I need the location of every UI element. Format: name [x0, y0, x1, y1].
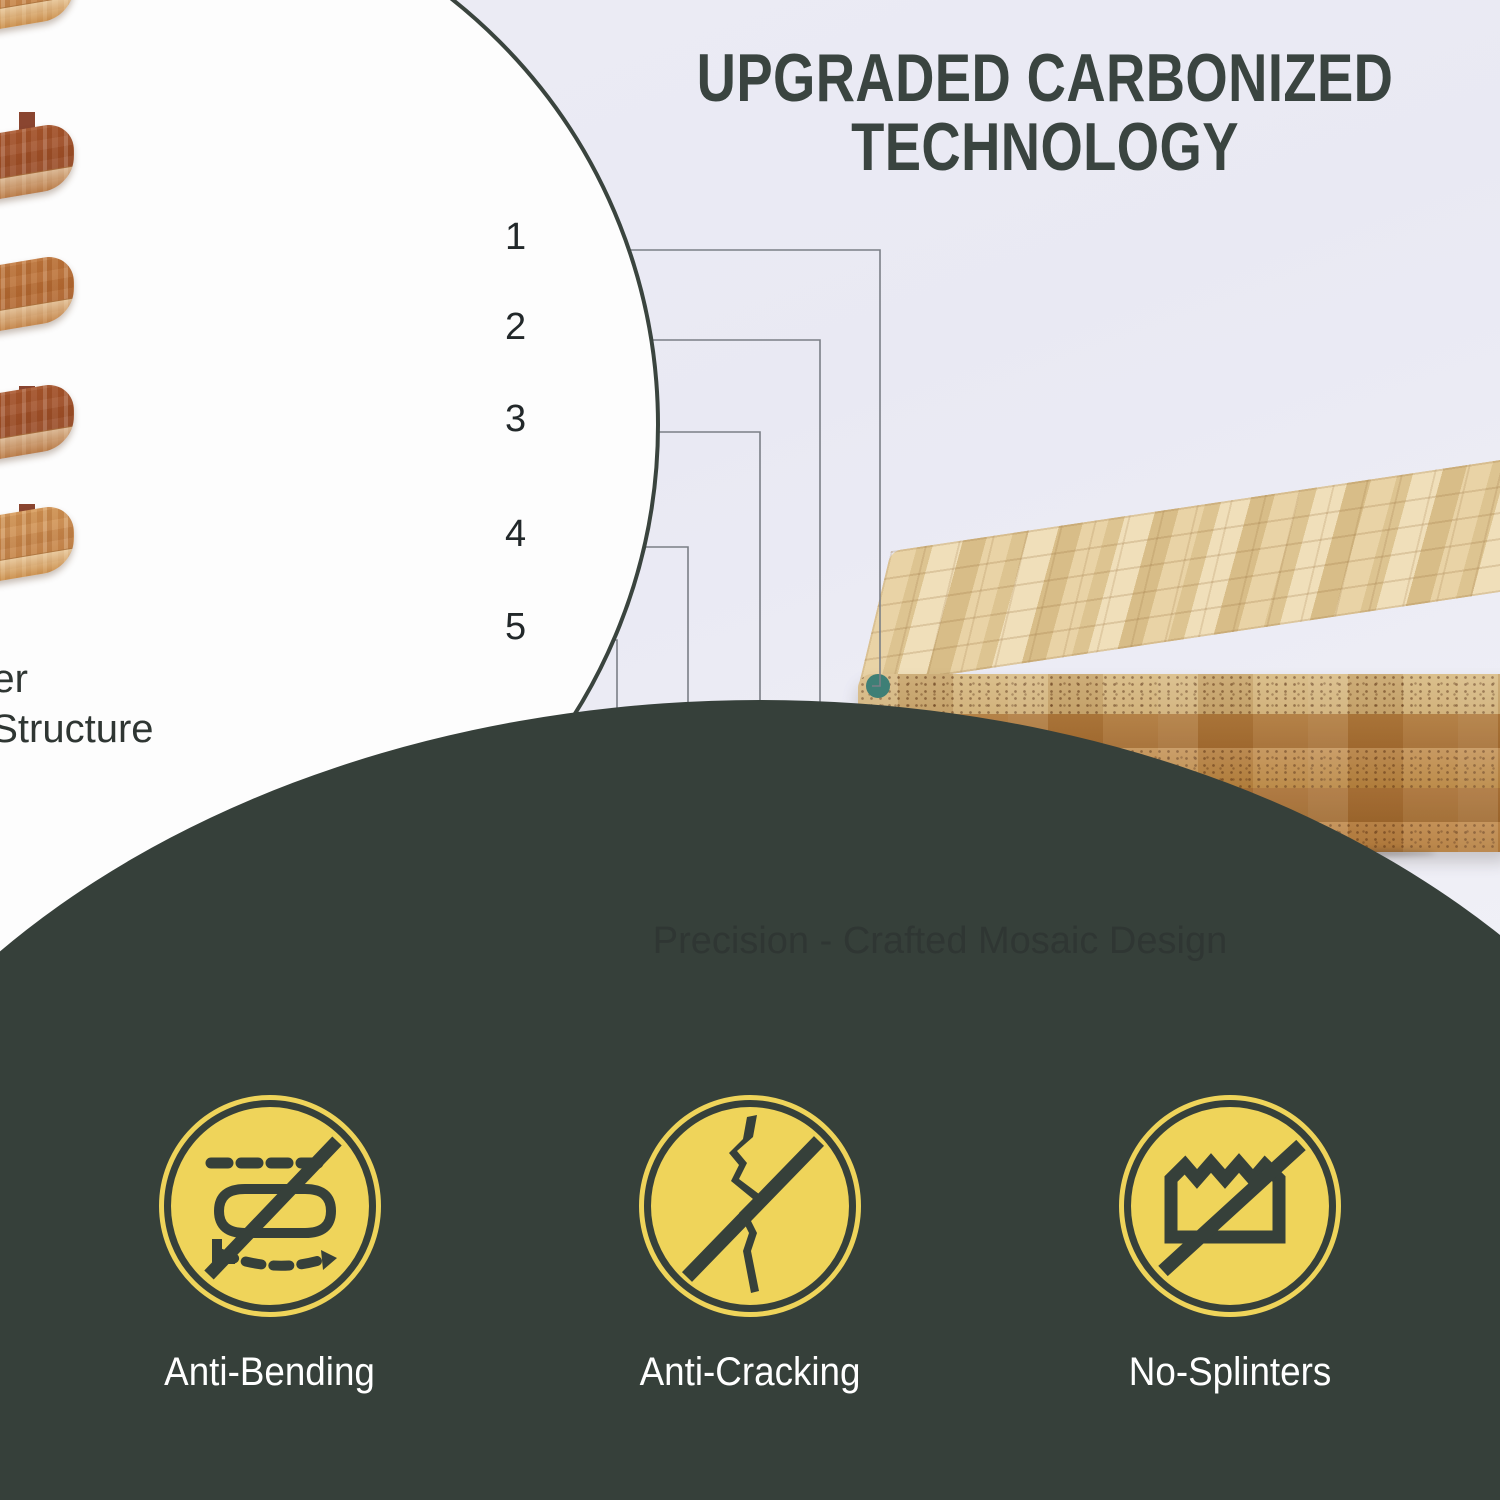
feature-label-anti-cracking: Anti-Cracking — [640, 1350, 861, 1395]
layer-dot-1 — [866, 674, 890, 698]
mosaic-design-caption: Precision - Crafted Mosaic Design — [560, 920, 1320, 963]
feature-anti-cracking: Anti-Cracking — [585, 1100, 915, 1395]
feature-anti-bending: Anti-Bending — [105, 1100, 435, 1395]
callout-number-4: 4 — [505, 515, 526, 553]
no-splinters-icon — [1124, 1100, 1336, 1312]
layer-structure-caption: 5 - Layer Compression Structure — [0, 654, 184, 754]
feature-list: Anti-Bending Anti-Cracking No-Splinters — [0, 1100, 1500, 1460]
page-title: UPGRADED CARBONIZED TECHNOLOGY — [689, 44, 1401, 183]
no-bending-icon — [164, 1100, 376, 1312]
callout-number-1: 1 — [505, 218, 526, 256]
board-mosaic-pattern — [858, 454, 1500, 688]
exploded-layer-stack — [0, 4, 134, 724]
board-layer-1 — [858, 674, 1500, 714]
upper-panel: UPGRADED CARBONIZED TECHNOLOGY — [0, 0, 1500, 985]
feature-label-no-splinters: No-Splinters — [1129, 1350, 1331, 1395]
callout-number-3: 3 — [505, 400, 526, 438]
no-cracking-icon — [644, 1100, 856, 1312]
stack-slab-1 — [0, 0, 74, 124]
infographic-stage: UPGRADED CARBONIZED TECHNOLOGY — [0, 0, 1500, 1500]
board-top-surface — [858, 454, 1500, 688]
feature-label-anti-bending: Anti-Bending — [165, 1350, 376, 1395]
callout-number-5: 5 — [505, 608, 526, 646]
stack-slab-5 — [0, 502, 74, 675]
feature-no-splinters: No-Splinters — [1065, 1100, 1395, 1395]
callout-number-2: 2 — [505, 308, 526, 346]
